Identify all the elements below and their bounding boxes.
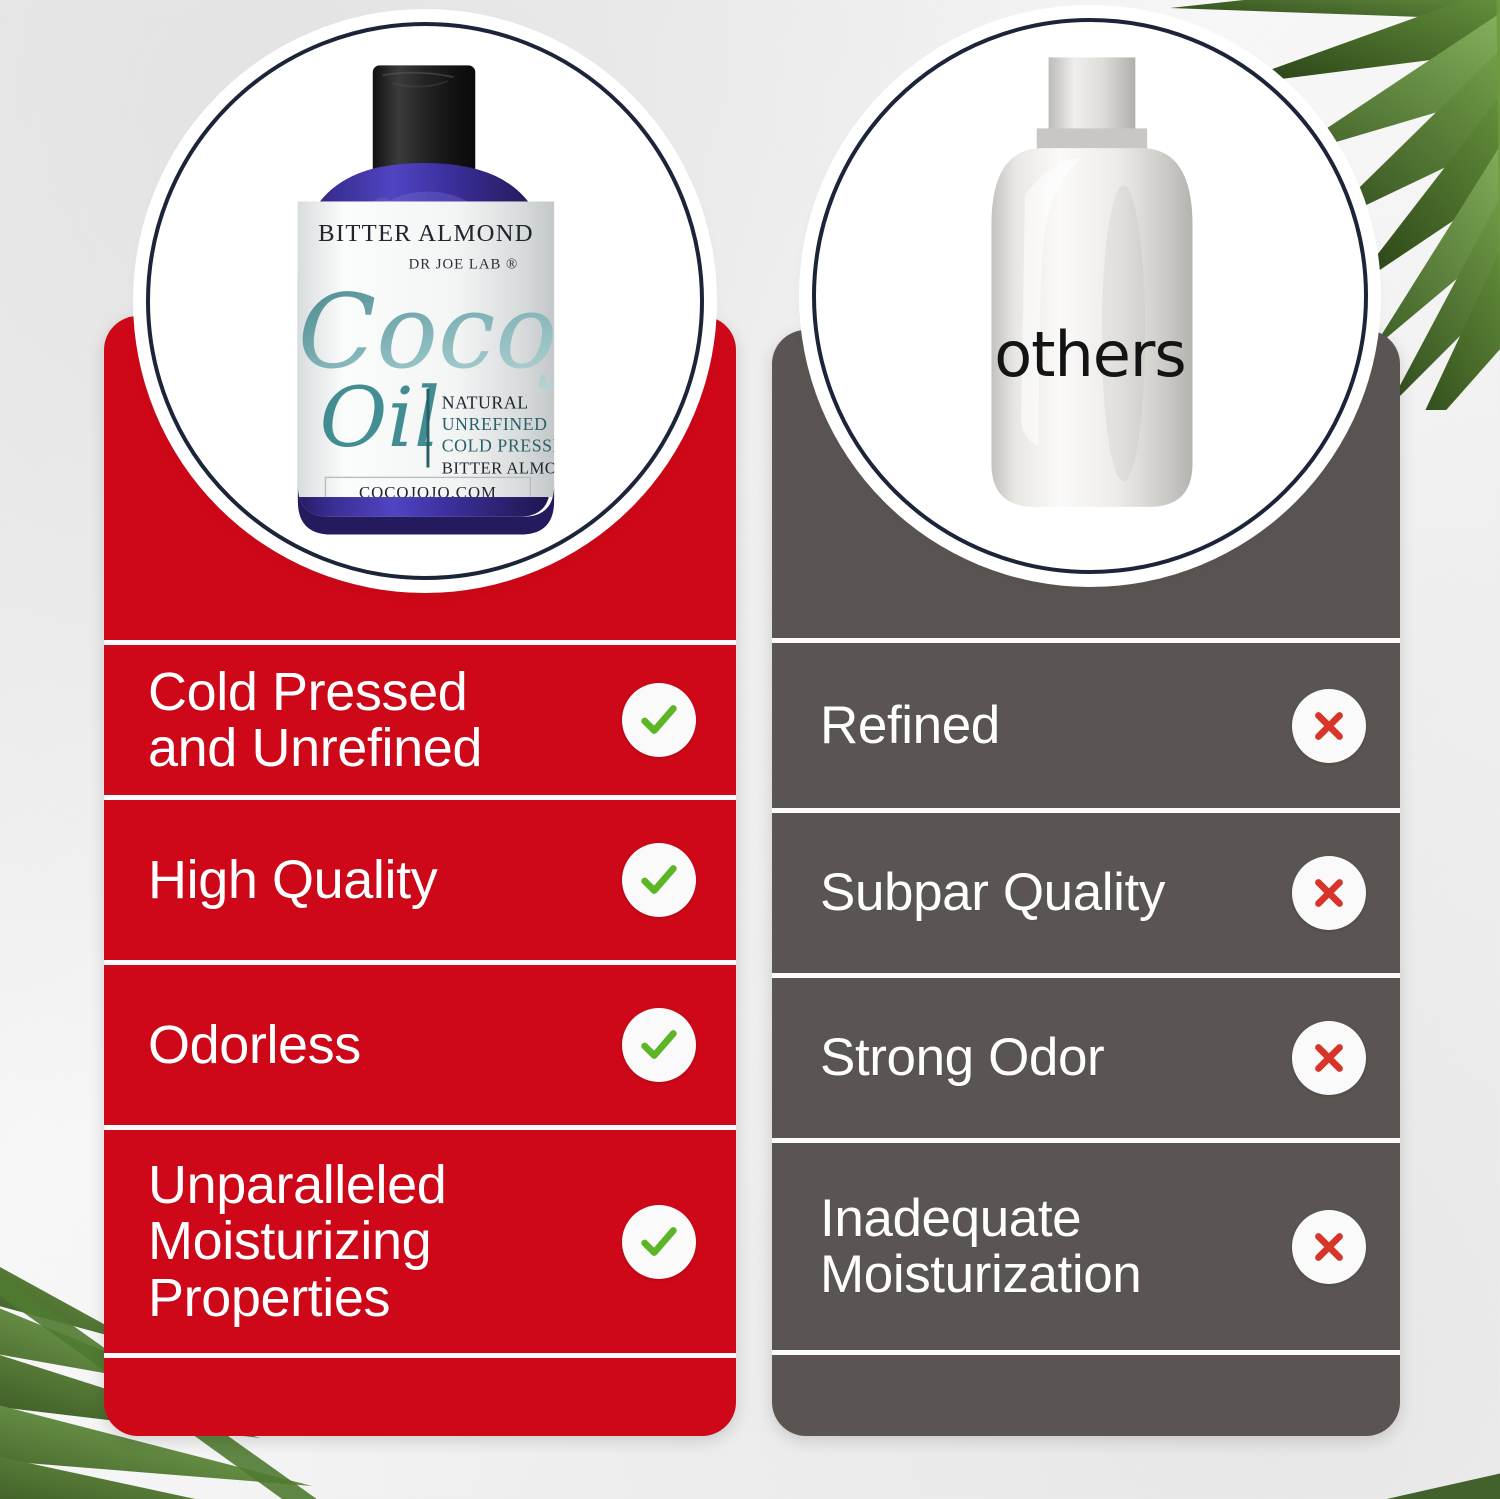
feature-label: Subpar Quality <box>820 865 1165 920</box>
brand-product-medallion: BITTER ALMOND DR JOE LAB ® Cocojo Oil NA… <box>146 22 704 580</box>
others-product-medallion: others <box>812 18 1368 574</box>
feature-row: High Quality <box>104 795 736 960</box>
brand-feature-rows: Cold Pressed and Unrefined High Quality … <box>104 640 736 1436</box>
feature-row: Unparalleled Moisturizing Properties <box>104 1125 736 1353</box>
status-badge <box>622 683 696 757</box>
label-claim: BITTER ALMOND OIL <box>442 458 616 477</box>
status-badge <box>1292 1210 1366 1284</box>
label-claim: UNREFINED <box>442 414 548 434</box>
check-icon <box>636 857 682 903</box>
status-badge <box>1292 1021 1366 1095</box>
feature-label: Cold Pressed and Unrefined <box>148 664 482 776</box>
check-icon <box>636 1219 682 1265</box>
status-badge <box>1292 856 1366 930</box>
card-footer-strip <box>772 1350 1400 1436</box>
label-claim: NATURAL <box>442 392 529 412</box>
label-sub-line: DR JOE LAB ® <box>409 256 519 272</box>
cross-icon <box>1306 870 1352 916</box>
status-badge <box>622 1205 696 1279</box>
label-claim: COLD PRESSED <box>442 436 578 456</box>
feature-label: Refined <box>820 698 1000 753</box>
cross-icon <box>1306 703 1352 749</box>
others-bottle-label: others <box>816 318 1364 391</box>
feature-row: Inadequate Moisturization <box>772 1138 1400 1350</box>
label-brand-line: BITTER ALMOND <box>318 220 534 247</box>
feature-label: Strong Odor <box>820 1030 1104 1085</box>
label-script-bottom: Oil <box>320 369 441 466</box>
cross-icon <box>1306 1224 1352 1270</box>
feature-row: Cold Pressed and Unrefined <box>104 640 736 795</box>
feature-row: Strong Odor <box>772 973 1400 1138</box>
cross-icon <box>1306 1035 1352 1081</box>
check-icon <box>636 1022 682 1068</box>
feature-row: Subpar Quality <box>772 808 1400 973</box>
card-footer-strip <box>104 1353 736 1436</box>
comparison-board: Cold Pressed and Unrefined High Quality … <box>0 0 1500 1499</box>
bitter-almond-bottle-image: BITTER ALMOND DR JOE LAB ® Cocojo Oil NA… <box>150 22 700 576</box>
others-feature-rows: Refined Subpar Quality Strong Odor <box>772 638 1400 1436</box>
feature-row: Refined <box>772 638 1400 808</box>
feature-label: Inadequate Moisturization <box>820 1191 1141 1301</box>
feature-label: High Quality <box>148 852 437 908</box>
status-badge <box>1292 689 1366 763</box>
feature-label: Unparalleled Moisturizing Properties <box>148 1157 446 1325</box>
feature-row: Odorless <box>104 960 736 1125</box>
feature-label: Odorless <box>148 1017 361 1073</box>
status-badge <box>622 1008 696 1082</box>
others-bottle-image <box>816 18 1364 570</box>
check-icon <box>636 697 682 743</box>
status-badge <box>622 843 696 917</box>
